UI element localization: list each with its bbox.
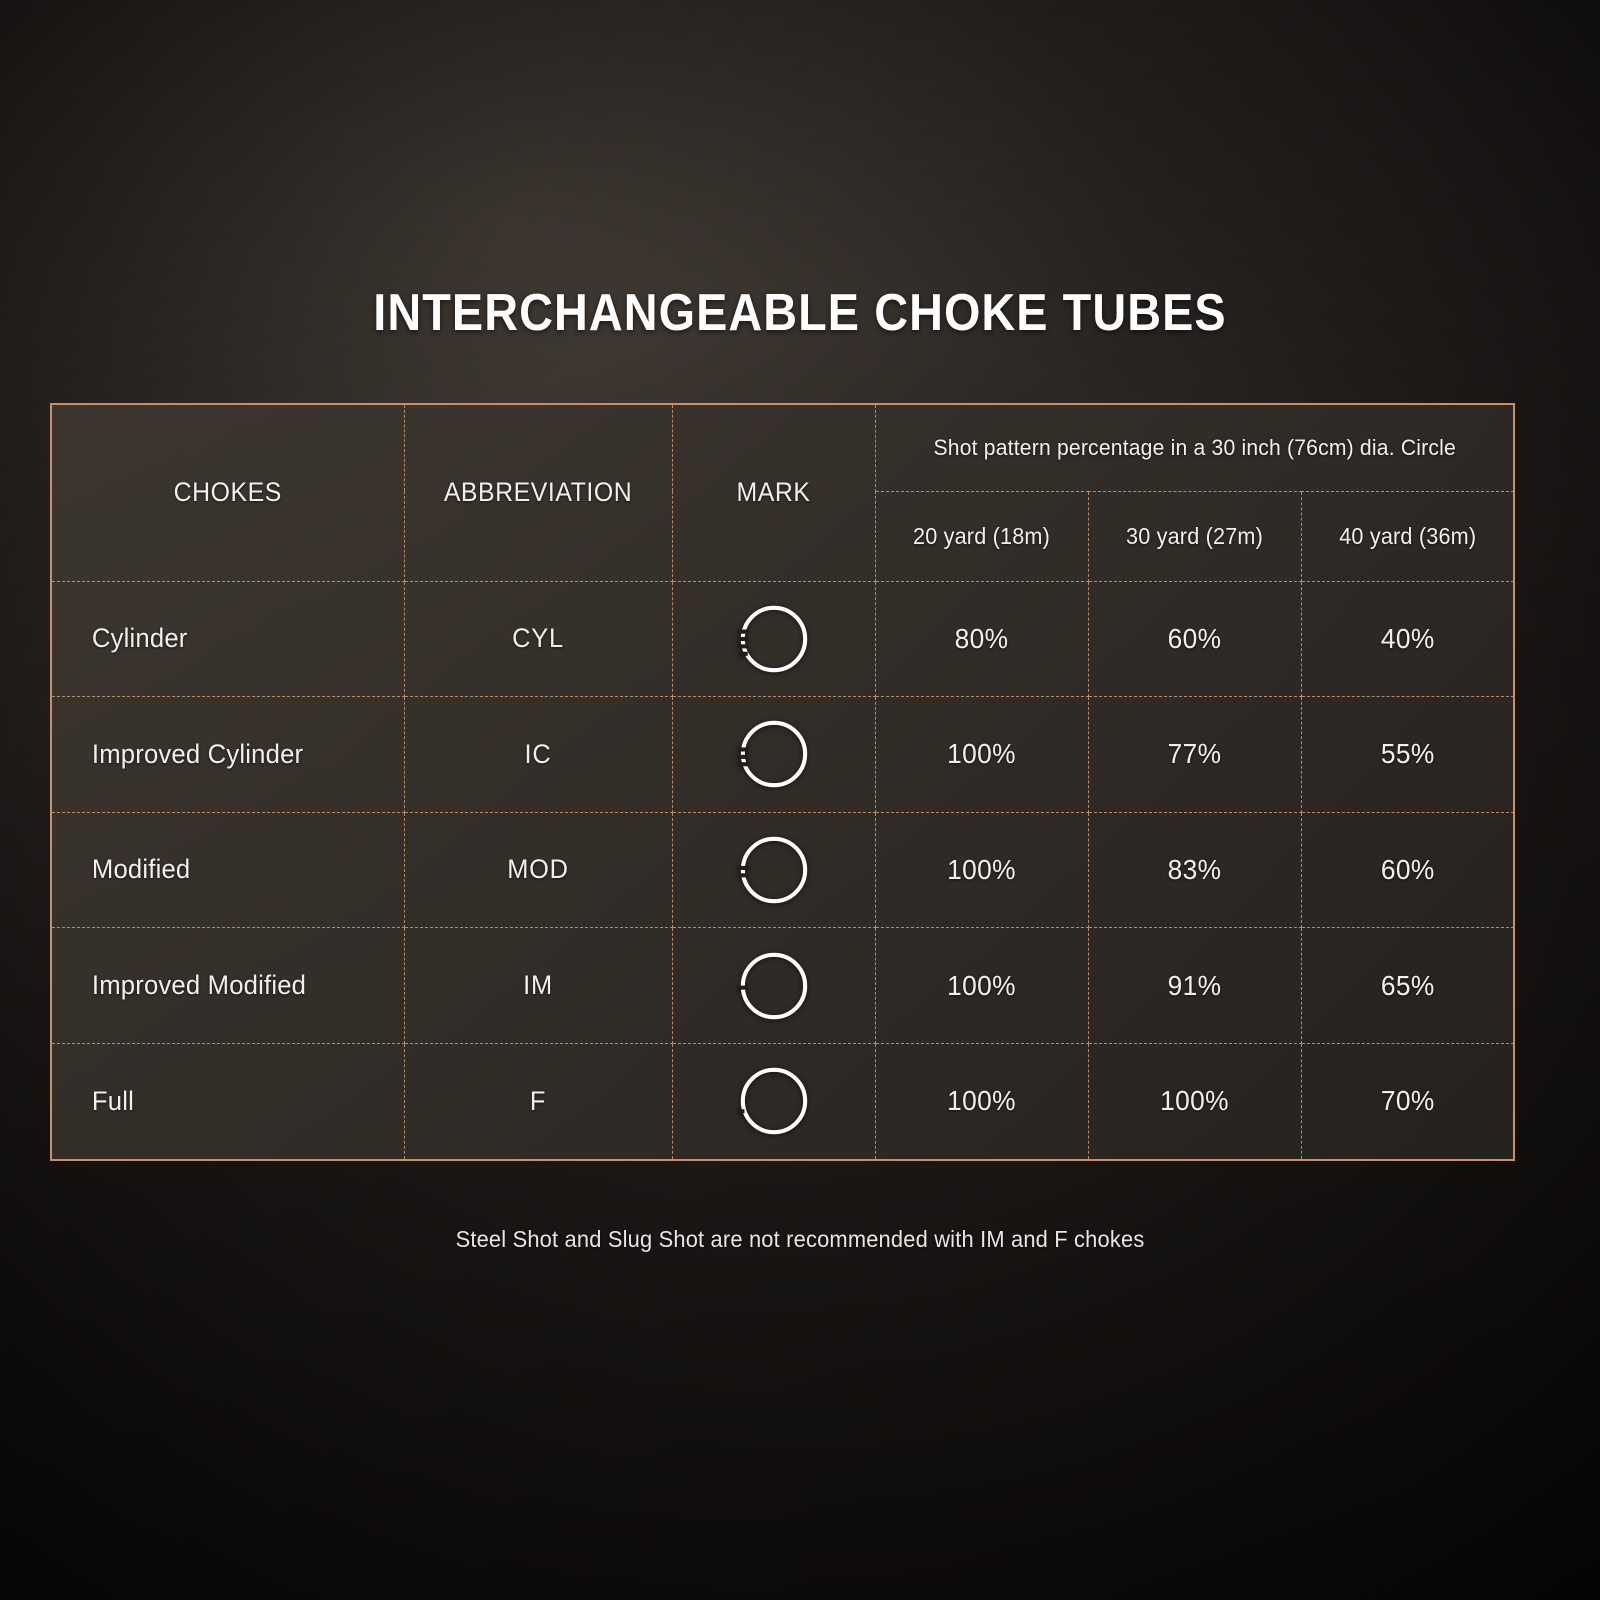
column-header-distance-20yd: 20 yard (18m) — [881, 491, 1081, 581]
table-row: Improved Cylinder IC 100% 77% 55% — [52, 697, 1514, 813]
cell-mark — [672, 928, 875, 1044]
table-row: Modified MOD 100% 83% 60% — [52, 812, 1514, 928]
table-row: Full F 100% 100% 70% — [52, 1043, 1514, 1159]
cell-percentage-30yd: 83% — [1094, 812, 1294, 928]
cell-mark — [672, 812, 875, 928]
cell-mark — [672, 1043, 875, 1159]
cell-abbreviation: CYL — [412, 581, 664, 697]
column-header-distance-40yd: 40 yard (36m) — [1307, 491, 1507, 581]
column-header-shot-pattern-group: Shot pattern percentage in a 30 inch (76… — [888, 405, 1501, 491]
cell-percentage-40yd: 40% — [1307, 581, 1507, 697]
circle-0-notch-icon — [733, 1060, 815, 1142]
header-row-top: CHOKES ABBREVIATION MARK Shot pattern pe… — [52, 405, 1514, 491]
column-header-chokes: CHOKES — [66, 405, 390, 581]
cell-choke-name: Improved Modified — [52, 928, 386, 1044]
column-header-distance-30yd: 30 yard (27m) — [1094, 491, 1294, 581]
table-header: CHOKES ABBREVIATION MARK Shot pattern pe… — [52, 405, 1514, 581]
table-row: Cylinder CYL 80% 60% 40% — [52, 581, 1514, 697]
cell-choke-name: Full — [52, 1043, 386, 1159]
cell-percentage-30yd: 60% — [1094, 581, 1294, 697]
choke-table-container: CHOKES ABBREVIATION MARK Shot pattern pe… — [50, 403, 1515, 1161]
column-header-mark: MARK — [680, 405, 867, 581]
table-row: Improved Modified IM 100% 91% 65% — [52, 928, 1514, 1044]
cell-choke-name: Modified — [52, 812, 386, 928]
circle-4-notch-icon — [733, 598, 815, 680]
page-title: INTERCHANGEABLE CHOKE TUBES — [80, 283, 1520, 343]
cell-percentage-30yd: 100% — [1094, 1043, 1294, 1159]
cell-percentage-20yd: 100% — [881, 1043, 1081, 1159]
cell-percentage-20yd: 100% — [881, 812, 1081, 928]
cell-mark — [672, 581, 875, 697]
choke-tube-chart-page: INTERCHANGEABLE CHOKE TUBES CHOKES ABBRE… — [0, 0, 1600, 1600]
circle-3-notch-icon — [733, 713, 815, 795]
cell-percentage-40yd: 70% — [1307, 1043, 1507, 1159]
cell-abbreviation: IC — [412, 697, 664, 813]
table-body: Cylinder CYL 80% 60% 40% — [52, 581, 1514, 1159]
cell-mark — [672, 697, 875, 813]
cell-percentage-30yd: 91% — [1094, 928, 1294, 1044]
cell-percentage-40yd: 60% — [1307, 812, 1507, 928]
cell-percentage-20yd: 80% — [881, 581, 1081, 697]
cell-abbreviation: F — [412, 1043, 664, 1159]
cell-percentage-20yd: 100% — [881, 928, 1081, 1044]
column-header-abbreviation: ABBREVIATION — [415, 405, 662, 581]
cell-percentage-20yd: 100% — [881, 697, 1081, 813]
cell-abbreviation: MOD — [412, 812, 664, 928]
cell-percentage-40yd: 65% — [1307, 928, 1507, 1044]
cell-abbreviation: IM — [412, 928, 664, 1044]
circle-2-notch-icon — [733, 829, 815, 911]
choke-table: CHOKES ABBREVIATION MARK Shot pattern pe… — [52, 405, 1514, 1159]
circle-1-notch-icon — [733, 945, 815, 1027]
cell-percentage-40yd: 55% — [1307, 697, 1507, 813]
cell-percentage-30yd: 77% — [1094, 697, 1294, 813]
footnote-text: Steel Shot and Slug Shot are not recomme… — [40, 1226, 1560, 1253]
cell-choke-name: Improved Cylinder — [52, 697, 386, 813]
cell-choke-name: Cylinder — [52, 581, 386, 697]
